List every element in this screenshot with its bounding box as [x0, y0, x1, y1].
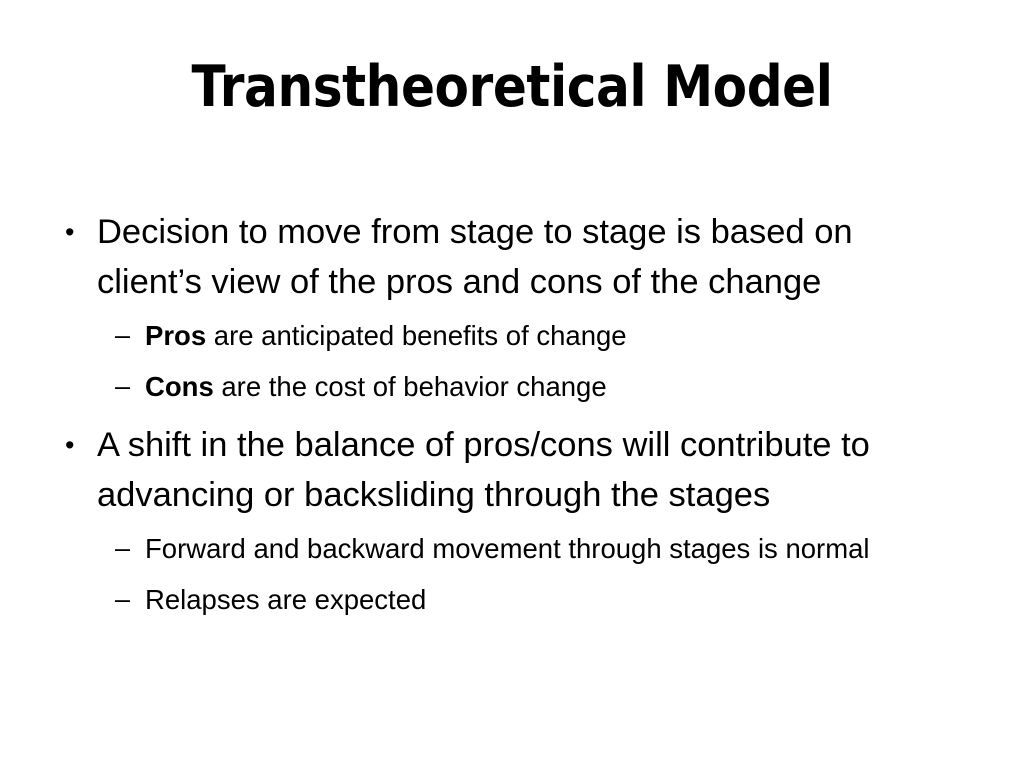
bullet-text: Pros are anticipated benefits of change — [145, 310, 945, 361]
bullet-text: A shift in the balance of pros/cons will… — [97, 420, 952, 520]
slide-title: Transtheoretical Model — [61, 58, 962, 118]
bullet-text: Relapses are expected — [145, 574, 945, 625]
bullet-text: Forward and backward movement through st… — [145, 523, 945, 574]
bullet-marker-dash-icon: – — [60, 523, 145, 574]
bullet-marker-dot-icon: • — [60, 207, 97, 257]
bullet-marker-dash-icon: – — [60, 361, 145, 412]
bullet-text-remainder: are anticipated benefits of change — [206, 320, 626, 351]
bullet-item-level2: – Relapses are expected — [60, 574, 964, 625]
slide: Transtheoretical Model • Decision to mov… — [0, 0, 1024, 768]
bullet-text-emphasis: Cons — [145, 371, 214, 402]
bullet-text-remainder: are the cost of behavior change — [214, 371, 607, 402]
list-spacer — [60, 412, 964, 420]
bullet-item-level1: • Decision to move from stage to stage i… — [60, 207, 964, 307]
slide-body-bullet-list: • Decision to move from stage to stage i… — [60, 207, 964, 625]
bullet-text: Decision to move from stage to stage is … — [97, 207, 952, 307]
bullet-marker-dash-icon: – — [60, 310, 145, 361]
bullet-marker-dot-icon: • — [60, 420, 97, 470]
bullet-item-level2: – Forward and backward movement through … — [60, 523, 964, 574]
bullet-item-level1: • A shift in the balance of pros/cons wi… — [60, 420, 964, 520]
bullet-marker-dash-icon: – — [60, 574, 145, 625]
bullet-item-level2: – Pros are anticipated benefits of chang… — [60, 310, 964, 361]
bullet-item-level2: – Cons are the cost of behavior change — [60, 361, 964, 412]
bullet-text-emphasis: Pros — [145, 320, 206, 351]
bullet-text: Cons are the cost of behavior change — [145, 361, 945, 412]
